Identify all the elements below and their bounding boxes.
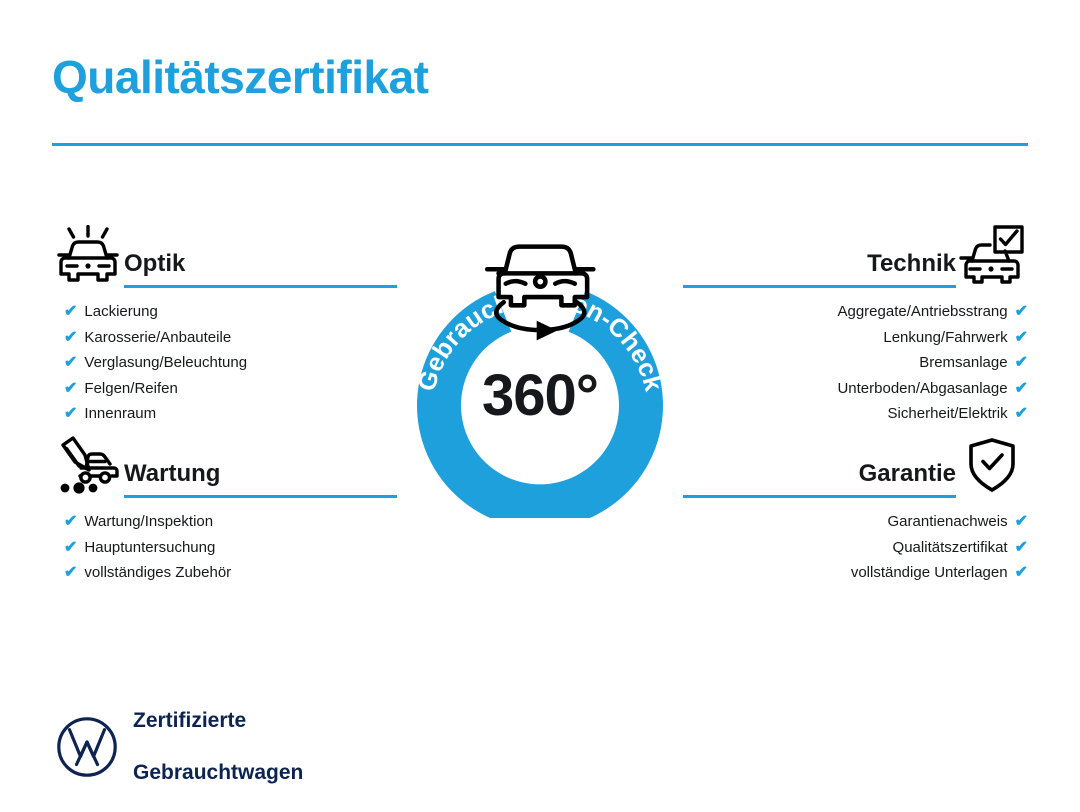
- check-icon: ✔: [64, 565, 77, 581]
- list-item: ✔ Wartung/Inspektion: [52, 514, 397, 540]
- list-item-label: Garantienachweis: [888, 514, 1008, 529]
- list-item: ✔ Hauptuntersuchung: [52, 540, 397, 566]
- list-item: ✔ Lackierung: [52, 304, 397, 330]
- section-wartung: Wartung ✔ Wartung/Inspektion ✔ Hauptunte…: [52, 428, 397, 591]
- check-icon: ✔: [64, 330, 77, 346]
- car-pen-service-icon: [52, 432, 124, 500]
- list-item: ✔ Verglasung/Beleuchtung: [52, 355, 397, 381]
- car-shine-icon: [52, 222, 124, 290]
- check-icon: ✔: [1015, 304, 1028, 320]
- list-item-label: Lackierung: [84, 304, 157, 319]
- list-item: ✔ vollständige Unterlagen: [683, 565, 1028, 591]
- list-item: ✔ Qualitätszertifikat: [683, 540, 1028, 566]
- section-garantie-underline: [683, 495, 956, 498]
- list-item: ✔ Unterboden/Abgasanlage: [683, 381, 1028, 407]
- section-optik: Optik ✔ Lackierung ✔ Karosserie/Anbautei…: [52, 218, 397, 432]
- list-item-label: Felgen/Reifen: [84, 381, 177, 396]
- check-icon: ✔: [1015, 330, 1028, 346]
- check-icon: ✔: [64, 304, 77, 320]
- list-item-label: Aggregate/Antriebsstrang: [837, 304, 1007, 319]
- technik-check-list: ✔ Aggregate/Antriebsstrang ✔ Lenkung/Fah…: [683, 304, 1028, 432]
- wartung-check-list: ✔ Wartung/Inspektion ✔ Hauptuntersuchung…: [52, 514, 397, 591]
- section-optik-header: Optik: [52, 218, 397, 290]
- badge-degrees-label: 360°: [482, 363, 598, 428]
- list-item-label: Lenkung/Fahrwerk: [883, 330, 1007, 345]
- garantie-check-list: ✔ Garantienachweis ✔ Qualitätszertifikat…: [683, 514, 1028, 591]
- check-icon: ✔: [64, 540, 77, 556]
- list-item-label: Bremsanlage: [919, 355, 1007, 370]
- section-wartung-title: Wartung: [124, 462, 397, 495]
- 360-check-badge: Gebrauchtwagen-Check 360°: [395, 218, 685, 518]
- list-item-label: vollständiges Zubehör: [84, 565, 231, 580]
- section-garantie-header: Garantie: [683, 428, 1028, 500]
- check-icon: ✔: [64, 514, 77, 530]
- header-divider: [52, 143, 1028, 146]
- section-garantie: Garantie ✔ Garantienachweis ✔ Qualitätsz…: [683, 428, 1028, 591]
- check-icon: ✔: [1015, 355, 1028, 371]
- list-item: ✔ vollständiges Zubehör: [52, 565, 397, 591]
- vw-logo-line1: Zertifizierte: [133, 708, 303, 734]
- page-title: Qualitätszertifikat: [52, 52, 429, 103]
- section-technik-title: Technik: [683, 252, 956, 285]
- list-item-label: Hauptuntersuchung: [84, 540, 215, 555]
- check-icon: ✔: [1015, 540, 1028, 556]
- list-item: ✔ Garantienachweis: [683, 514, 1028, 540]
- list-item-label: Innenraum: [84, 406, 156, 421]
- check-icon: ✔: [1015, 565, 1028, 581]
- list-item-label: Verglasung/Beleuchtung: [84, 355, 247, 370]
- section-garantie-title: Garantie: [683, 462, 956, 495]
- vw-logo-text: Zertifizierte Gebrauchtwagen: [133, 682, 303, 812]
- section-garantie-titlewrap: Garantie: [683, 462, 956, 500]
- list-item: ✔ Karosserie/Anbauteile: [52, 330, 397, 356]
- check-icon: ✔: [64, 355, 77, 371]
- list-item-label: Qualitätszertifikat: [893, 540, 1008, 555]
- list-item: ✔ Aggregate/Antriebsstrang: [683, 304, 1028, 330]
- section-optik-underline: [124, 285, 397, 288]
- check-icon: ✔: [1015, 381, 1028, 397]
- vw-logo-lockup: Zertifizierte Gebrauchtwagen: [56, 682, 303, 812]
- section-technik-header: Technik: [683, 218, 1028, 290]
- section-wartung-underline: [124, 495, 397, 498]
- optik-check-list: ✔ Lackierung ✔ Karosserie/Anbauteile ✔ V…: [52, 304, 397, 432]
- list-item-label: Sicherheit/Elektrik: [888, 406, 1008, 421]
- check-icon: ✔: [1015, 514, 1028, 530]
- shield-check-icon: [956, 432, 1028, 500]
- section-optik-title: Optik: [124, 252, 397, 285]
- list-item: ✔ Lenkung/Fahrwerk: [683, 330, 1028, 356]
- check-icon: ✔: [64, 381, 77, 397]
- check-icon: ✔: [64, 406, 77, 422]
- list-item: ✔ Felgen/Reifen: [52, 381, 397, 407]
- check-icon: ✔: [1015, 406, 1028, 422]
- list-item-label: Karosserie/Anbauteile: [84, 330, 231, 345]
- section-optik-titlewrap: Optik: [124, 252, 397, 290]
- section-wartung-titlewrap: Wartung: [124, 462, 397, 500]
- certificate-page: Qualitätszertifikat: [0, 0, 1080, 810]
- car-checkbox-icon: [956, 222, 1028, 290]
- vw-logo-line2: Gebrauchtwagen: [133, 760, 303, 786]
- vw-logo-icon: [56, 716, 118, 778]
- section-technik: Technik ✔ Aggregate/Antriebsstrang ✔ Len…: [683, 218, 1028, 432]
- section-technik-underline: [683, 285, 956, 288]
- list-item: ✔ Bremsanlage: [683, 355, 1028, 381]
- list-item-label: vollständige Unterlagen: [851, 565, 1008, 580]
- list-item-label: Wartung/Inspektion: [84, 514, 213, 529]
- list-item-label: Unterboden/Abgasanlage: [837, 381, 1007, 396]
- section-wartung-header: Wartung: [52, 428, 397, 500]
- section-technik-titlewrap: Technik: [683, 252, 956, 290]
